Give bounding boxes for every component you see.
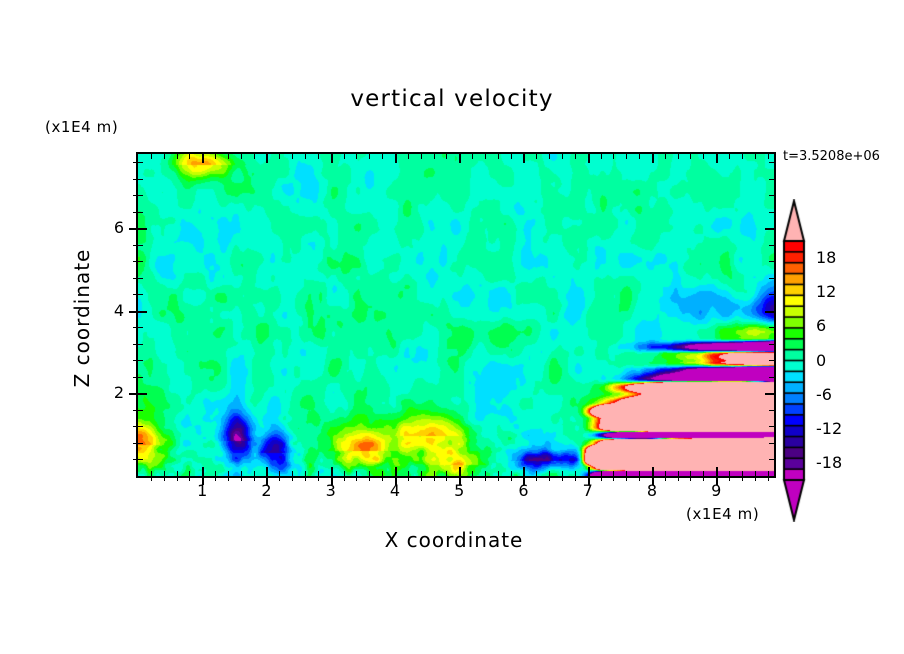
z-tick-label: 4 [104,301,124,320]
z-tick-right [769,212,774,213]
x-tick-top [254,154,255,159]
x-minor-tick [241,476,242,481]
y-axis-unit-label: (x1E4 m) [45,118,118,136]
x-tick-top-inner [652,467,654,476]
x-tick-top-inner [202,467,204,476]
x-tick-top-inner [562,471,563,476]
x-minor-tick [279,476,280,481]
x-minor-tick [292,476,293,481]
x-minor-tick [151,476,152,481]
x-tick-top [151,154,152,159]
z-tick-inner [138,410,143,411]
x-tick-top [228,154,229,159]
x-tick-top-inner [459,467,461,476]
x-tick-top-inner [228,471,229,476]
x-tick-top [305,154,306,159]
x-tick-top-inner [755,471,756,476]
x-tick-top-inner [164,471,165,476]
x-tick-top-inner [356,471,357,476]
x-tick-top-inner [575,471,576,476]
z-tick-right [765,311,774,313]
z-major-tick [129,393,138,395]
z-tick-right [769,459,774,460]
x-tick-top-inner [434,471,435,476]
x-tick-top [626,154,627,159]
x-tick-top-inner [395,467,397,476]
x-tick-top-inner [254,471,255,476]
x-minor-tick [177,476,178,481]
z-tick-inner [138,360,143,361]
x-tick-top-inner [266,467,268,476]
x-minor-tick [485,476,486,481]
z-tick-right [769,377,774,378]
x-minor-tick [626,476,627,481]
page-title: vertical velocity [0,86,904,112]
z-tick-inner [138,426,143,427]
x-tick-top-inner [523,467,525,476]
x-tick-top [652,154,654,163]
x-tick-top [292,154,293,159]
x-tick-top [344,154,345,159]
x-minor-tick [305,476,306,481]
x-tick-top [215,154,216,159]
x-tick-top-inner [639,471,640,476]
z-tick-inner [138,228,147,230]
x-tick-top [536,154,537,159]
z-major-tick [129,228,138,230]
x-tick-top-inner [408,471,409,476]
colorbar-tick-label: 0 [816,351,826,370]
x-minor-tick [536,476,537,481]
x-tick-top-inner [716,467,718,476]
x-tick-label: 8 [640,481,664,500]
x-minor-tick [755,476,756,481]
x-minor-tick [421,476,422,481]
x-tick-top [575,154,576,159]
x-tick-label: 9 [704,481,728,500]
x-tick-top [742,154,743,159]
x-tick-top [729,154,730,159]
z-tick-inner [138,459,143,460]
x-tick-top [266,154,268,163]
z-tick-right [769,327,774,328]
x-minor-tick [742,476,743,481]
x-tick-top [498,154,499,159]
colorbar-tick-label: -6 [816,385,832,404]
x-tick-top-inner [690,471,691,476]
z-tick-right [769,294,774,295]
x-tick-top [485,154,486,159]
colorbar-tick-label: -18 [816,453,842,472]
x-tick-top [241,154,242,159]
z-tick-inner [138,344,143,345]
x-tick-label: 1 [190,481,214,500]
x-tick-top-inner [369,471,370,476]
z-tick-right [765,228,774,230]
z-tick-right [769,261,774,262]
x-minor-tick [356,476,357,481]
contour-plot-area [136,152,776,478]
x-tick-top [588,154,590,163]
x-tick-top-inner [742,471,743,476]
x-tick-top [665,154,666,159]
x-minor-tick [768,476,769,481]
x-tick-top-inner [536,471,537,476]
z-tick-right [769,443,774,444]
figure-root: vertical velocity (x1E4 m) (x1E4 m) t=3.… [0,0,904,654]
x-tick-top-inner [421,471,422,476]
x-tick-top [716,154,718,163]
z-tick-right [769,245,774,246]
x-tick-label: 6 [511,481,535,500]
x-tick-top [755,154,756,159]
x-tick-top-inner [279,471,280,476]
z-tick-inner [138,377,143,378]
x-tick-top [768,154,769,159]
x-tick-top-inner [588,467,590,476]
x-tick-top-inner [601,471,602,476]
z-tick-right [769,195,774,196]
x-tick-top [472,154,473,159]
colorbar-tick-label: 18 [816,248,836,267]
x-minor-tick [344,476,345,481]
x-tick-top [382,154,383,159]
x-tick-top [279,154,280,159]
x-tick-top [318,154,319,159]
x-minor-tick [228,476,229,481]
x-tick-top [549,154,550,159]
x-tick-top [369,154,370,159]
x-minor-tick [562,476,563,481]
colorbar-tick-label: 6 [816,316,826,335]
x-tick-top [408,154,409,159]
x-tick-top-inner [485,471,486,476]
x-tick-top [164,154,165,159]
x-tick-top-inner [305,471,306,476]
x-tick-top [601,154,602,159]
x-tick-top [562,154,563,159]
x-tick-top-inner [446,471,447,476]
x-tick-top [703,154,704,159]
x-tick-top-inner [498,471,499,476]
z-tick-right [765,393,774,395]
z-tick-right [769,410,774,411]
x-axis-unit-label: (x1E4 m) [686,505,759,523]
x-tick-top [446,154,447,159]
x-minor-tick [408,476,409,481]
z-tick-right [769,162,774,163]
z-tick-inner [138,261,143,262]
colorbar-gradient [781,199,809,522]
y-axis-title: Z coordinate [70,157,94,479]
x-tick-top [189,154,190,159]
x-tick-top [639,154,640,159]
x-minor-tick [164,476,165,481]
x-tick-top-inner [382,471,383,476]
z-major-tick [129,311,138,313]
x-tick-top-inner [318,471,319,476]
z-tick-right [769,179,774,180]
x-tick-top-inner [151,471,152,476]
x-tick-label: 5 [447,481,471,500]
z-tick-label: 2 [104,383,124,402]
z-tick-inner [138,162,143,163]
x-tick-top-inner [331,467,333,476]
x-tick-label: 7 [576,481,600,500]
z-tick-inner [138,294,143,295]
x-tick-top [678,154,679,159]
x-tick-top [511,154,512,159]
x-tick-top-inner [768,471,769,476]
x-minor-tick [472,476,473,481]
z-tick-right [769,278,774,279]
z-tick-right [769,344,774,345]
x-tick-top-inner [626,471,627,476]
x-tick-top [459,154,461,163]
x-tick-top [331,154,333,163]
x-minor-tick [215,476,216,481]
x-tick-top [356,154,357,159]
x-minor-tick [729,476,730,481]
x-tick-top [177,154,178,159]
x-tick-top [613,154,614,159]
x-tick-top [690,154,691,159]
x-minor-tick [498,476,499,481]
x-tick-label: 2 [254,481,278,500]
x-tick-top-inner [292,471,293,476]
time-annotation: t=3.5208e+06 [783,149,880,164]
x-tick-top-inner [344,471,345,476]
x-tick-top-inner [511,471,512,476]
z-tick-inner [138,195,143,196]
x-tick-top-inner [177,471,178,476]
z-tick-right [769,426,774,427]
x-minor-tick [434,476,435,481]
x-tick-top [434,154,435,159]
x-tick-top-inner [665,471,666,476]
colorbar [781,199,809,522]
z-tick-inner [138,393,147,395]
x-axis-title: X coordinate [136,528,772,552]
vertical-velocity-heatmap [138,154,774,476]
x-tick-top-inner [703,471,704,476]
x-tick-top-inner [549,471,550,476]
x-minor-tick [678,476,679,481]
z-tick-inner [138,327,143,328]
z-tick-inner [138,212,143,213]
x-minor-tick [665,476,666,481]
x-minor-tick [601,476,602,481]
x-tick-label: 3 [319,481,343,500]
x-tick-top-inner [189,471,190,476]
z-tick-inner [138,179,143,180]
x-tick-top [202,154,204,163]
colorbar-tick-label: 12 [816,282,836,301]
x-minor-tick [613,476,614,481]
colorbar-tick-label: -12 [816,419,842,438]
x-tick-top [523,154,525,163]
z-tick-label: 6 [104,218,124,237]
x-minor-tick [690,476,691,481]
x-tick-top-inner [472,471,473,476]
x-tick-top [395,154,397,163]
x-tick-label: 4 [383,481,407,500]
z-tick-inner [138,278,143,279]
x-tick-top-inner [241,471,242,476]
x-tick-top [421,154,422,159]
z-tick-inner [138,311,147,313]
z-tick-inner [138,245,143,246]
x-minor-tick [549,476,550,481]
x-tick-top-inner [613,471,614,476]
z-tick-inner [138,443,143,444]
x-tick-top-inner [215,471,216,476]
x-tick-top-inner [729,471,730,476]
x-tick-top-inner [678,471,679,476]
z-tick-right [769,360,774,361]
x-minor-tick [369,476,370,481]
